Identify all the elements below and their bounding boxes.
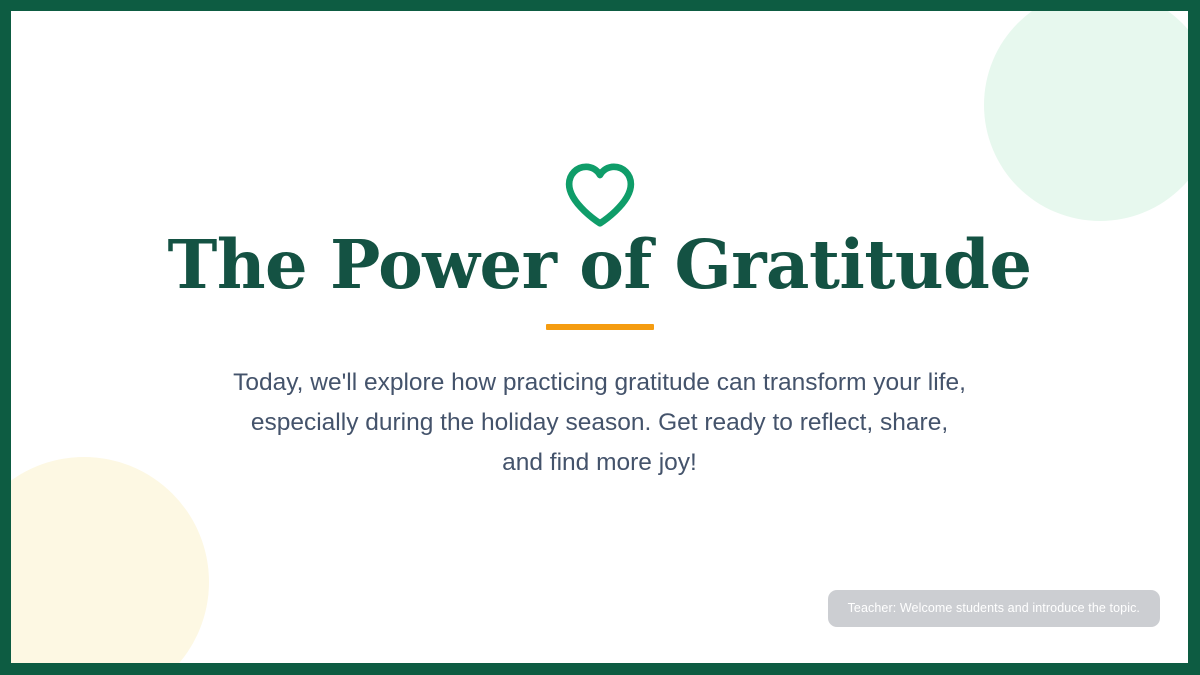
slide-card: The Power of Gratitude Today, we'll expl… [11, 11, 1188, 663]
slide-content: The Power of Gratitude Today, we'll expl… [11, 11, 1188, 663]
slide-frame: The Power of Gratitude Today, we'll expl… [0, 0, 1200, 675]
heart-icon [562, 159, 638, 229]
title-accent-rule [546, 324, 654, 330]
speaker-note-pill: Teacher: Welcome students and introduce … [828, 590, 1160, 627]
slide-subtitle: Today, we'll explore how practicing grat… [230, 363, 970, 483]
page-title: The Power of Gratitude [167, 229, 1031, 300]
subtitle-wrapper: Today, we'll explore how practicing grat… [230, 363, 970, 483]
